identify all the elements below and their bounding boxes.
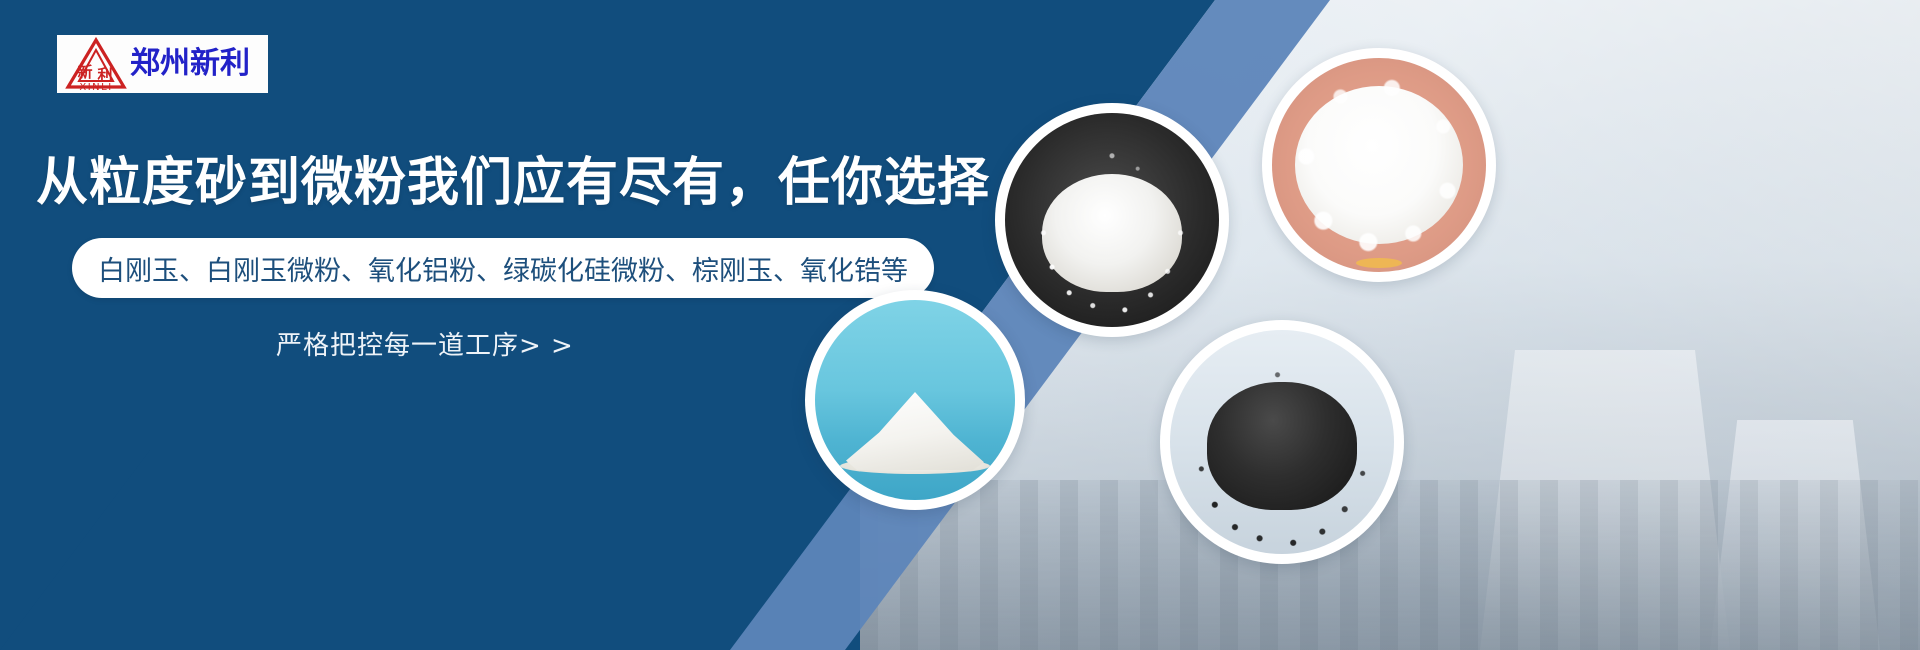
- headline: 从粒度砂到微粉我们应有尽有，任你选择: [36, 140, 990, 215]
- promotional-banner: 新 利 XINLI 郑州新利 从粒度砂到微粉我们应有尽有，任你选择 白刚玉、白刚…: [0, 0, 1920, 650]
- white-grit-speckles: [1005, 113, 1219, 327]
- powder-tray-highlight: [1356, 258, 1402, 268]
- product-list-pill: 白刚玉、白刚玉微粉、氧化铝粉、绿碳化硅微粉、棕刚玉、氧化锆等: [72, 238, 934, 298]
- product-photo-sic-grit: [1160, 320, 1404, 564]
- product-list-text: 白刚玉、白刚玉微粉、氧化铝粉、绿碳化硅微粉、棕刚玉、氧化锆等: [98, 249, 908, 288]
- black-grit-speckles: [1170, 330, 1394, 554]
- svg-text:XINLI: XINLI: [79, 82, 112, 91]
- xinli-triangle-icon: 新 利 XINLI: [65, 37, 127, 91]
- cta-link[interactable]: 严格把控每一道工序> >: [276, 325, 574, 362]
- product-photo-inner: [1272, 58, 1486, 272]
- logo-company-name: 郑州新利: [130, 49, 250, 79]
- product-photo-inner: [1005, 113, 1219, 327]
- product-photo-wfa-grit: [995, 103, 1229, 337]
- product-photo-inner: [1170, 330, 1394, 554]
- product-photo-micro-powder: [805, 290, 1025, 510]
- company-logo[interactable]: 新 利 XINLI 郑州新利: [57, 35, 268, 93]
- micro-powder-cone: [846, 392, 984, 470]
- svg-text:新: 新: [77, 63, 92, 81]
- product-photo-inner: [815, 300, 1015, 500]
- product-photo-alumina-powder: [1262, 48, 1496, 282]
- white-powder-clumps: [1272, 58, 1486, 272]
